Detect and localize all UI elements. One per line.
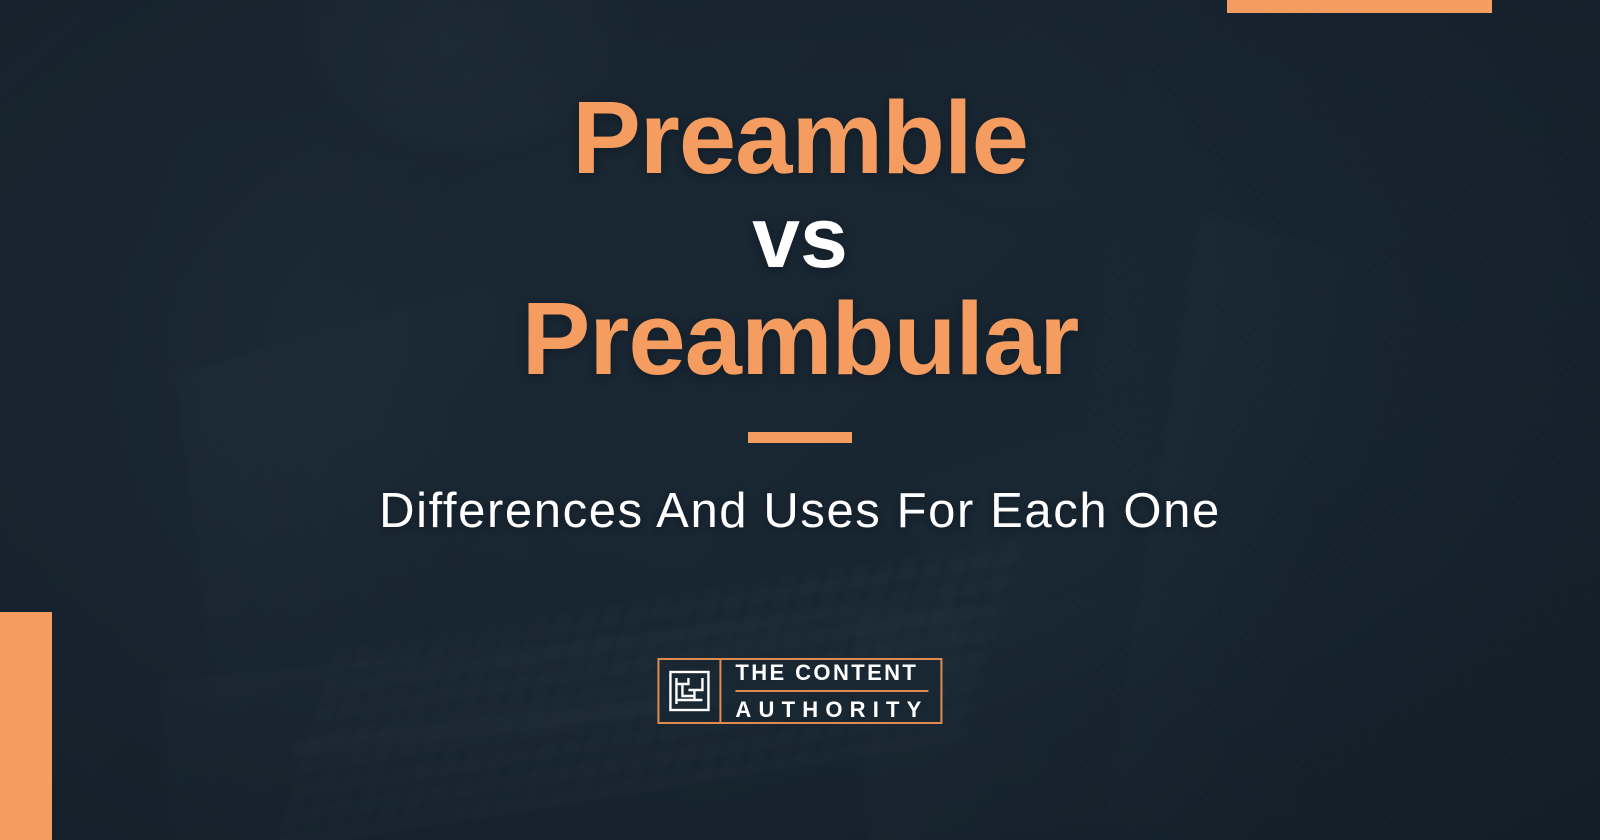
- logo-mark: [659, 660, 721, 722]
- title-line-first: Preamble: [522, 86, 1079, 189]
- title-line-vs: vs: [522, 195, 1079, 281]
- hero-banner: Preamble vs Preambular Differences And U…: [0, 0, 1600, 840]
- brand-logo[interactable]: THE CONTENT AUTHORITY: [657, 658, 942, 724]
- title-divider: [748, 432, 852, 443]
- title-line-second: Preambular: [522, 287, 1079, 390]
- logo-wordmark: THE CONTENT AUTHORITY: [721, 660, 940, 722]
- page-subtitle: Differences And Uses For Each One: [379, 483, 1221, 539]
- logo-line-the-content: THE CONTENT: [735, 658, 928, 692]
- page-title: Preamble vs Preambular: [522, 86, 1079, 390]
- logo-line-authority: AUTHORITY: [735, 692, 928, 724]
- content-authority-maze-icon: [668, 670, 710, 712]
